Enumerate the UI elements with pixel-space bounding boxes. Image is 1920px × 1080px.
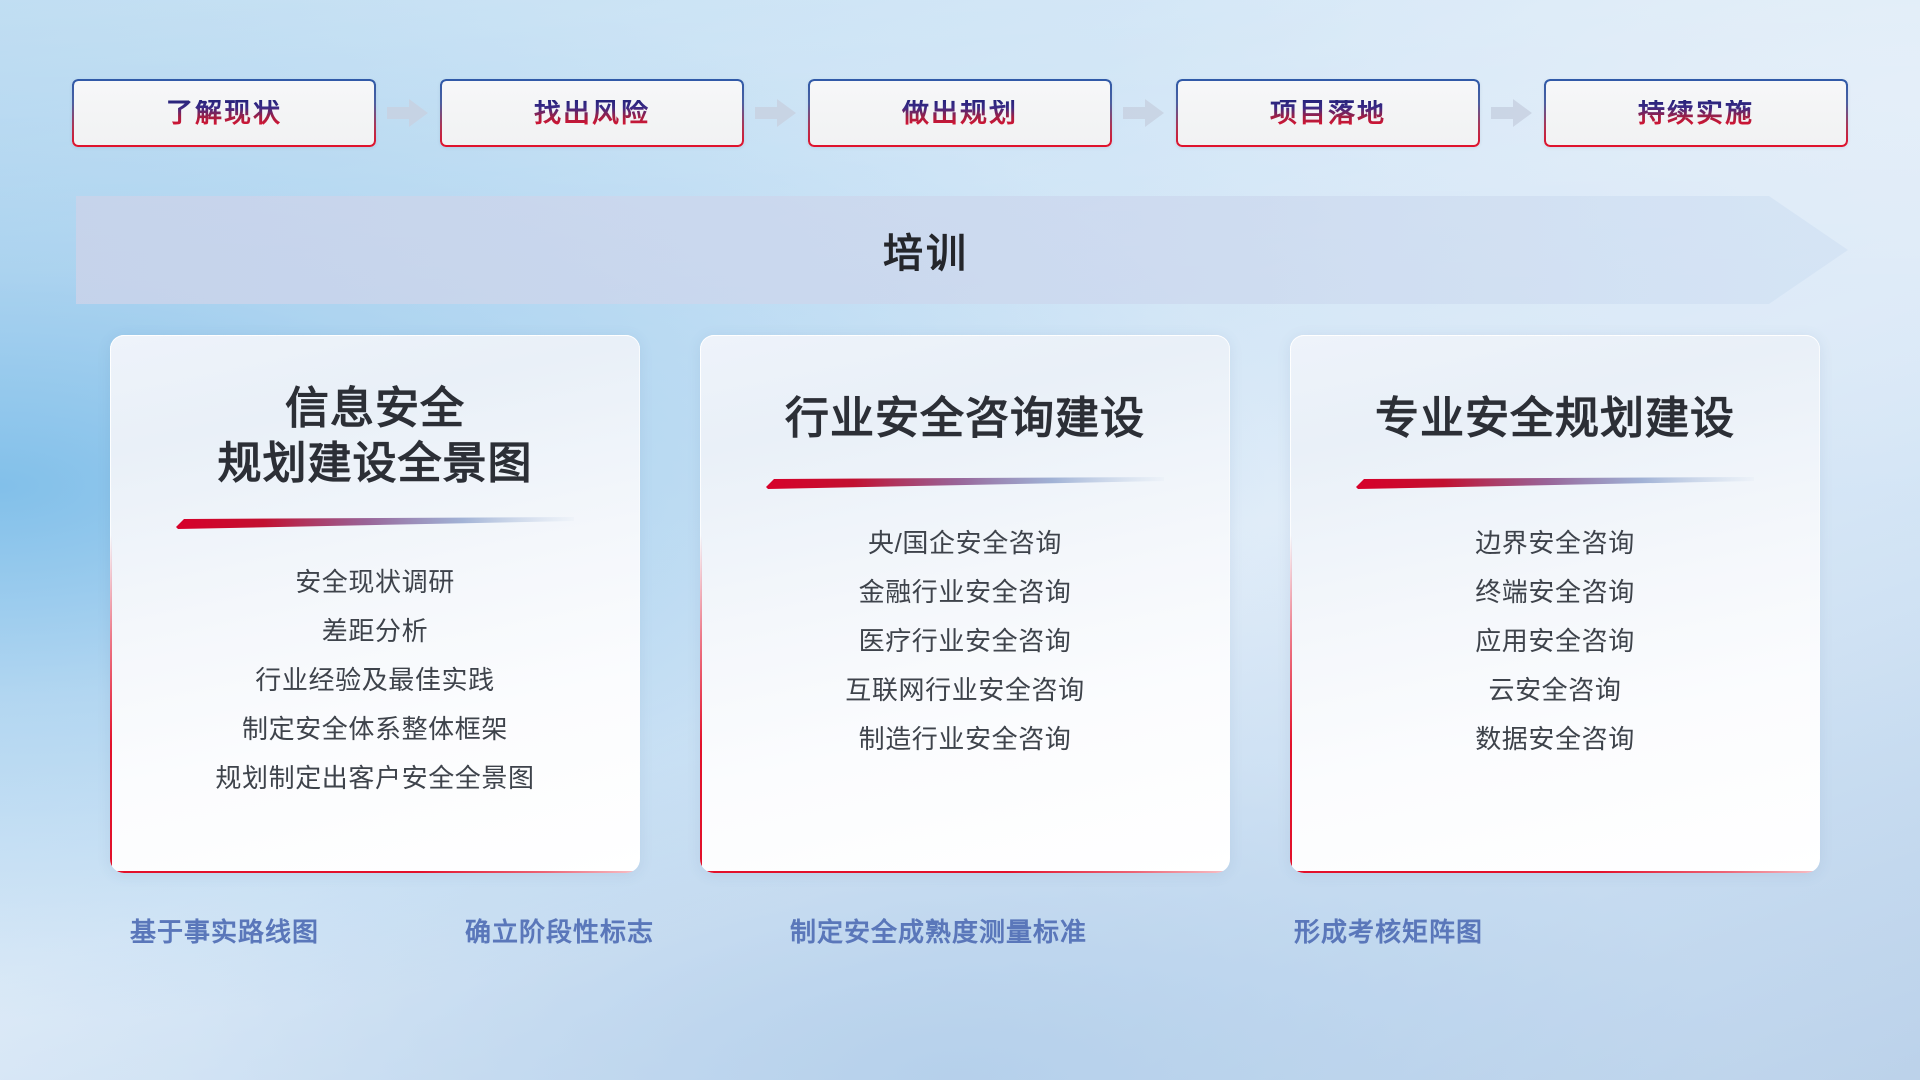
info-card-2[interactable]: 行业安全咨询建设央/国企安全咨询金融行业安全咨询医疗行业安全咨询互联网行业安全咨… bbox=[700, 335, 1230, 873]
card-list: 安全现状调研差距分析行业经验及最佳实践制定安全体系整体框架规划制定出客户安全全景… bbox=[110, 558, 640, 803]
info-card-1[interactable]: 信息安全 规划建设全景图安全现状调研差距分析行业经验及最佳实践制定安全体系整体框… bbox=[110, 335, 640, 873]
list-item: 云安全咨询 bbox=[1290, 665, 1820, 714]
caption-1: 基于事实路线图 bbox=[130, 912, 319, 949]
card-divider bbox=[700, 476, 1230, 490]
card-title: 专业安全规划建设 bbox=[1290, 335, 1820, 446]
list-item: 终端安全咨询 bbox=[1290, 567, 1820, 616]
list-item: 差距分析 bbox=[110, 607, 640, 656]
caption-3: 制定安全成熟度测量标准 bbox=[790, 912, 1087, 949]
list-item: 边界安全咨询 bbox=[1290, 518, 1820, 567]
arrow-right-icon bbox=[1491, 98, 1533, 128]
card-row: 信息安全 规划建设全景图安全现状调研差距分析行业经验及最佳实践制定安全体系整体框… bbox=[110, 335, 1820, 875]
list-item: 制定安全体系整体框架 bbox=[110, 705, 640, 754]
card-title: 行业安全咨询建设 bbox=[700, 335, 1230, 446]
list-item: 安全现状调研 bbox=[110, 558, 640, 607]
card-accent-bottom bbox=[110, 871, 640, 873]
band-title: 培训 bbox=[76, 196, 1776, 304]
list-item: 医疗行业安全咨询 bbox=[700, 616, 1230, 665]
caption-2: 确立阶段性标志 bbox=[465, 912, 654, 949]
arrow-right-icon bbox=[387, 98, 429, 128]
step-label: 做出规划 bbox=[902, 100, 1018, 127]
step-label: 找出风险 bbox=[534, 100, 650, 127]
step-box-5[interactable]: 持续实施 bbox=[1544, 79, 1848, 147]
list-item: 行业经验及最佳实践 bbox=[110, 656, 640, 705]
list-item: 应用安全咨询 bbox=[1290, 616, 1820, 665]
list-item: 数据安全咨询 bbox=[1290, 714, 1820, 763]
list-item: 金融行业安全咨询 bbox=[700, 567, 1230, 616]
card-divider bbox=[110, 516, 640, 530]
list-item: 制造行业安全咨询 bbox=[700, 714, 1230, 763]
list-item: 互联网行业安全咨询 bbox=[700, 665, 1230, 714]
step-box-3[interactable]: 做出规划 bbox=[808, 79, 1112, 147]
list-item: 央/国企安全咨询 bbox=[700, 518, 1230, 567]
step-box-2[interactable]: 找出风险 bbox=[440, 79, 744, 147]
card-list: 边界安全咨询终端安全咨询应用安全咨询云安全咨询数据安全咨询 bbox=[1290, 518, 1820, 763]
process-steps: 了解现状找出风险做出规划项目落地持续实施 bbox=[72, 78, 1848, 148]
card-title: 信息安全 规划建设全景图 bbox=[110, 335, 640, 492]
info-card-3[interactable]: 专业安全规划建设边界安全咨询终端安全咨询应用安全咨询云安全咨询数据安全咨询 bbox=[1290, 335, 1820, 873]
step-label: 持续实施 bbox=[1638, 100, 1754, 127]
caption-4: 形成考核矩阵图 bbox=[1294, 912, 1483, 949]
card-list: 央/国企安全咨询金融行业安全咨询医疗行业安全咨询互联网行业安全咨询制造行业安全咨… bbox=[700, 518, 1230, 763]
step-box-1[interactable]: 了解现状 bbox=[72, 79, 376, 147]
step-label: 了解现状 bbox=[166, 100, 282, 127]
training-band: 培训 bbox=[76, 196, 1848, 304]
caption-row: 基于事实路线图确立阶段性标志制定安全成熟度测量标准形成考核矩阵图 bbox=[0, 912, 1920, 964]
list-item: 规划制定出客户安全全景图 bbox=[110, 754, 640, 803]
card-accent-bottom bbox=[700, 871, 1230, 873]
arrow-right-icon bbox=[755, 98, 797, 128]
card-divider bbox=[1290, 476, 1820, 490]
card-accent-bottom bbox=[1290, 871, 1820, 873]
step-label: 项目落地 bbox=[1270, 100, 1386, 127]
arrow-right-icon bbox=[1123, 98, 1165, 128]
step-box-4[interactable]: 项目落地 bbox=[1176, 79, 1480, 147]
